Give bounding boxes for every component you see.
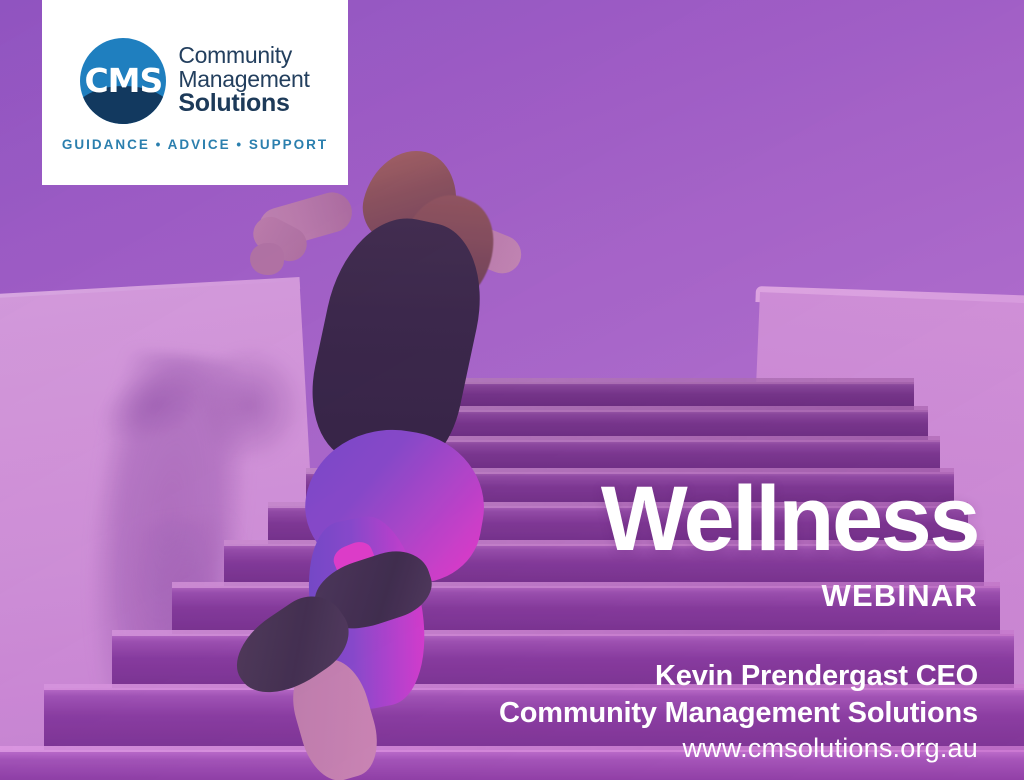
- logo-word-line-2: Management: [178, 68, 309, 91]
- webinar-title-slide: CMS Community Management Solutions GUIDA…: [0, 0, 1024, 780]
- page-title: Wellness: [338, 474, 978, 564]
- presenter-block: Kevin Prendergast CEO Community Manageme…: [278, 658, 978, 732]
- logo-wordmark: Community Management Solutions: [178, 44, 309, 116]
- logo-lockup: CMS Community Management Solutions: [80, 38, 309, 124]
- cms-circle-icon: CMS: [80, 38, 166, 124]
- title-block: Wellness WEBINAR: [338, 474, 978, 614]
- presenter-organisation: Community Management Solutions: [278, 695, 978, 732]
- logo-word-line-1: Community: [178, 44, 309, 67]
- page-subtitle: WEBINAR: [338, 578, 978, 614]
- logo-word-line-3: Solutions: [178, 91, 309, 117]
- website-url: www.cmsolutions.org.au: [278, 733, 978, 764]
- runner-figure: [250, 140, 570, 700]
- presenter-name: Kevin Prendergast CEO: [278, 658, 978, 695]
- logo-tagline: GUIDANCE • ADVICE • SUPPORT: [62, 137, 328, 152]
- cms-monogram: CMS: [80, 38, 166, 124]
- runner-left-fist: [250, 243, 284, 275]
- logo-card: CMS Community Management Solutions GUIDA…: [42, 0, 348, 185]
